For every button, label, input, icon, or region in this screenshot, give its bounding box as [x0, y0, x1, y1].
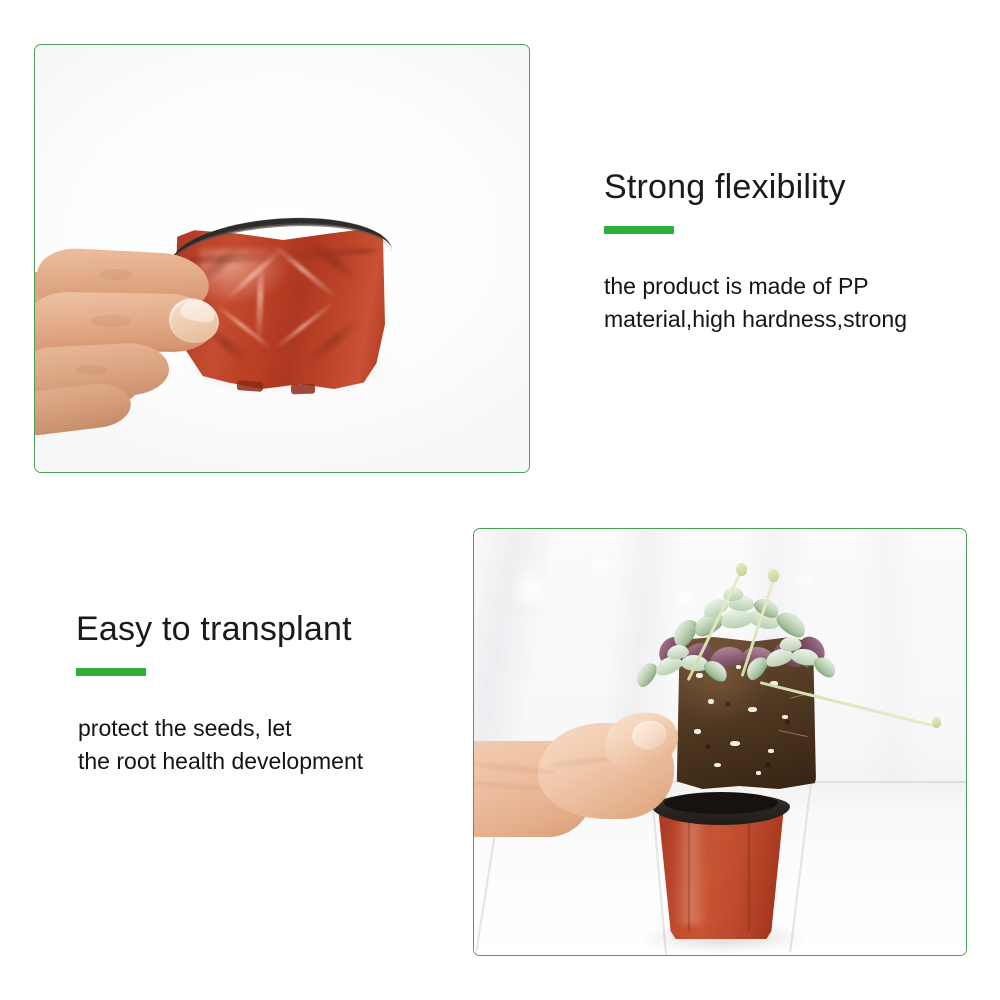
bokeh-light: [586, 551, 616, 581]
knuckle-crease: [99, 269, 133, 280]
knuckle-crease: [75, 365, 107, 375]
bokeh-light: [794, 569, 816, 591]
feature-image-panel-easy-to-transplant: [473, 528, 967, 956]
flower-bud: [736, 563, 747, 576]
perlite-speck: [768, 749, 774, 753]
feature-body-text: protect the seeds, let the root health d…: [78, 712, 363, 778]
photo-hand-lifting-succulent-rootball: [474, 529, 966, 955]
flower-bud: [768, 569, 779, 582]
perlite-speck: [714, 763, 721, 767]
perlite-speck: [748, 707, 757, 712]
pot-rib: [748, 813, 750, 931]
finger: [34, 380, 133, 438]
accent-bar: [604, 226, 674, 234]
perlite-speck: [696, 673, 703, 678]
feature-body-text: the product is made of PP material,high …: [604, 270, 907, 336]
flower-bud: [932, 717, 941, 728]
pot-foot: [237, 380, 264, 392]
knuckle-crease: [91, 315, 131, 327]
perlite-speck: [736, 665, 741, 669]
feature-heading: Easy to transplant: [76, 612, 363, 646]
perlite-speck: [782, 715, 788, 719]
feature-heading: Strong flexibility: [604, 170, 907, 204]
perlite-speck: [730, 741, 740, 746]
feature-text-easy-to-transplant: Easy to transplant protect the seeds, le…: [76, 612, 363, 778]
hand-squeezing-pot: [34, 241, 239, 431]
hand-lifting-plant: [473, 707, 704, 837]
feature-text-strong-flexibility: Strong flexibility the product is made o…: [604, 170, 907, 336]
accent-bar: [76, 668, 146, 676]
photo-hand-squeezing-flexible-red-pot: [35, 45, 529, 472]
perlite-speck: [708, 699, 714, 704]
bokeh-light: [672, 585, 698, 611]
perlite-speck: [756, 771, 761, 775]
pot-foot: [291, 384, 315, 395]
feature-image-panel-strong-flexibility: [34, 44, 530, 473]
bokeh-light: [510, 567, 554, 611]
